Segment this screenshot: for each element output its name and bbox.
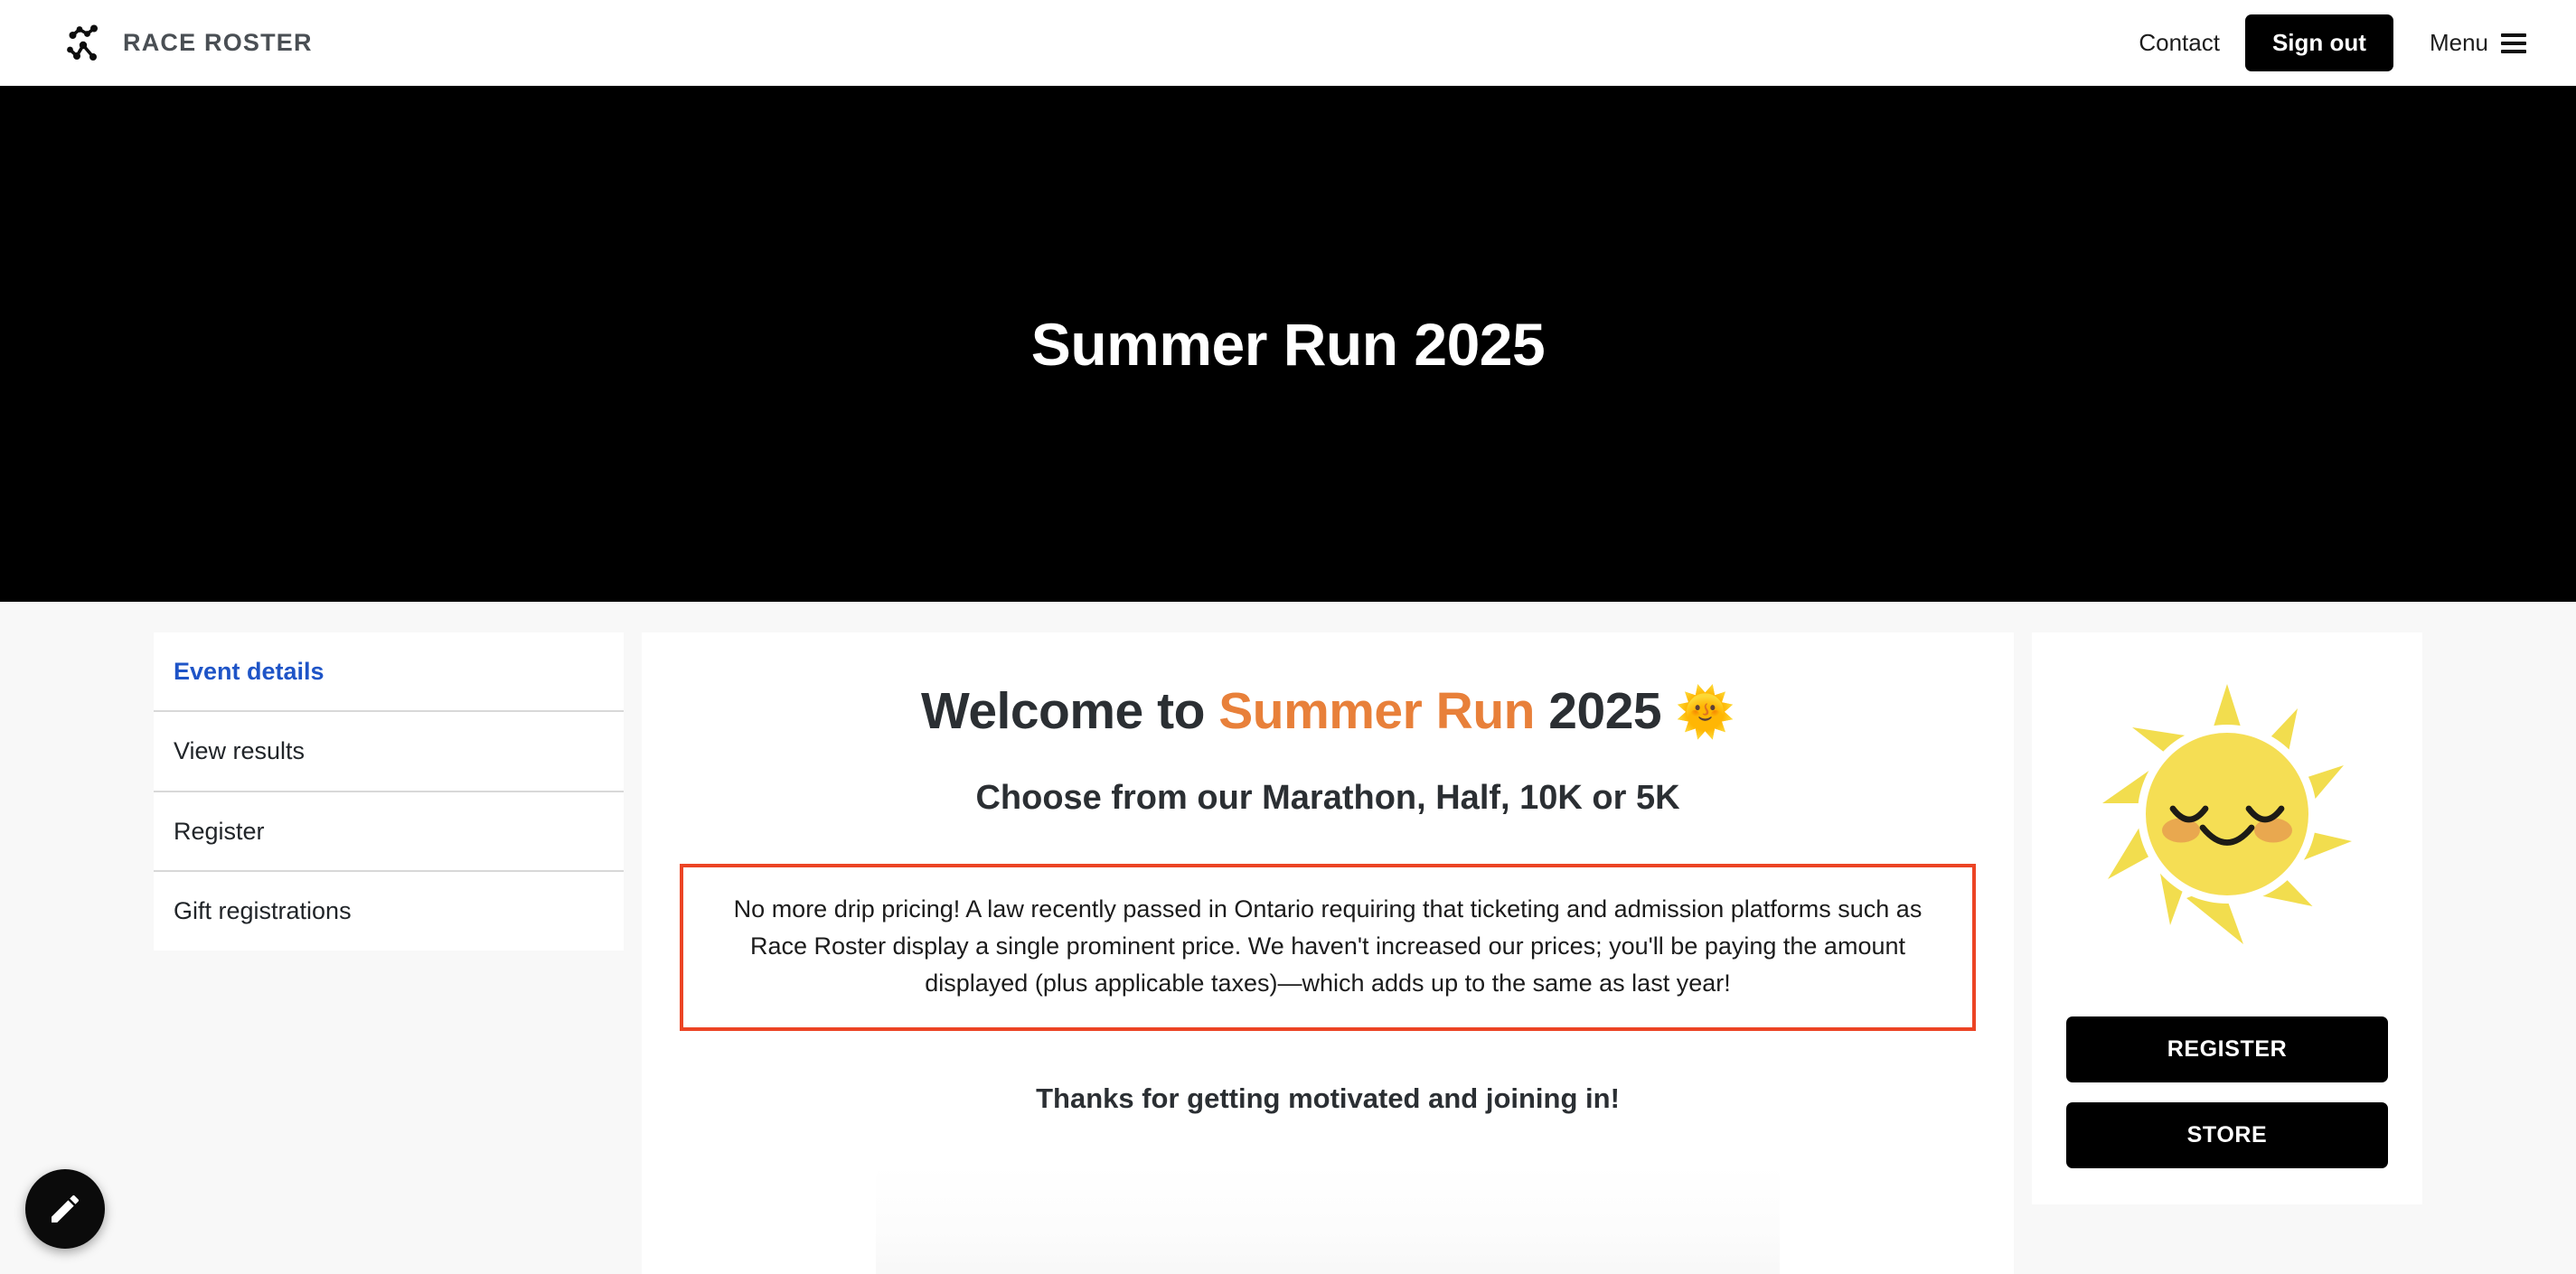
distance-options-subheading: Choose from our Marathon, Half, 10K or 5… — [680, 776, 1976, 820]
sidebar-item-register[interactable]: Register — [154, 792, 624, 872]
menu-label: Menu — [2430, 29, 2488, 57]
content-layout: Event details View results Register Gift… — [0, 632, 2576, 1274]
event-side-nav: Event details View results Register Gift… — [154, 632, 624, 951]
event-description-panel: Welcome to Summer Run 2025 🌞 Choose from… — [642, 632, 2014, 1274]
sun-with-face-emoji: 🌞 — [1675, 686, 1735, 739]
smiling-sun-illustration — [2066, 665, 2388, 963]
page-body: Event details View results Register Gift… — [0, 602, 2576, 1274]
sidebar-item-view-results[interactable]: View results — [154, 712, 624, 792]
brand-name: RACE ROSTER — [123, 29, 313, 57]
hamburger-icon — [2501, 33, 2526, 53]
welcome-suffix: 2025 — [1535, 682, 1675, 740]
pricing-notice-text: No more drip pricing! A law recently pas… — [714, 891, 1941, 1002]
welcome-prefix: Welcome to — [921, 682, 1218, 740]
thanks-message: Thanks for getting motivated and joining… — [680, 1082, 1976, 1115]
register-button[interactable]: REGISTER — [2066, 1016, 2388, 1082]
pricing-notice-box: No more drip pricing! A law recently pas… — [680, 864, 1976, 1031]
brand-logo[interactable]: RACE ROSTER — [65, 23, 313, 64]
sign-out-button[interactable]: Sign out — [2245, 14, 2393, 71]
event-media-placeholder — [876, 1165, 1780, 1274]
contact-link[interactable]: Contact — [2113, 29, 2245, 57]
store-button[interactable]: STORE — [2066, 1102, 2388, 1168]
welcome-heading: Welcome to Summer Run 2025 🌞 — [680, 679, 1976, 744]
edit-page-fab[interactable] — [25, 1169, 105, 1249]
event-hero-banner: Summer Run 2025 — [0, 86, 2576, 602]
sidebar-item-gift-registrations[interactable]: Gift registrations — [154, 872, 624, 950]
header-nav: Contact Sign out Menu — [2113, 14, 2526, 71]
site-header: RACE ROSTER Contact Sign out Menu — [0, 0, 2576, 86]
event-title: Summer Run 2025 — [1031, 310, 1545, 379]
menu-toggle-button[interactable]: Menu — [2393, 29, 2526, 57]
welcome-accent: Summer Run — [1218, 682, 1535, 740]
sidebar-item-event-details[interactable]: Event details — [154, 632, 624, 712]
race-roster-logo-icon — [65, 23, 107, 64]
pencil-edit-icon — [47, 1191, 83, 1227]
event-promo-panel: REGISTER STORE — [2032, 632, 2422, 1204]
